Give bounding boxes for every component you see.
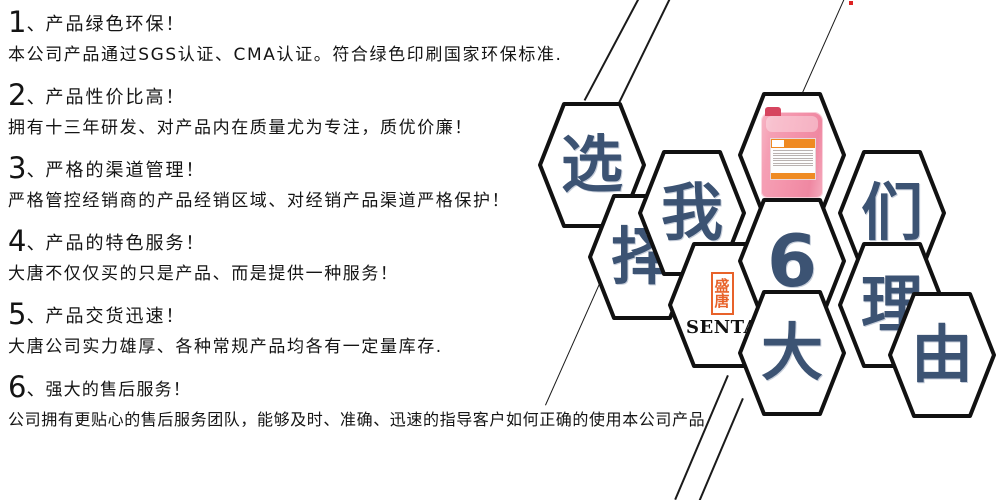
reason-heading: 1、产品绿色环保！ bbox=[8, 8, 708, 37]
hex-label-big: 大 bbox=[736, 288, 848, 418]
reason-body: 本公司产品通过SGS认证、CMA认证。符合绿色印刷国家环保标准. bbox=[8, 44, 708, 67]
reason-body: 公司拥有更贴心的售后服务团队，能够及时、准确、迅速的指导客户如何正确的使用本公司… bbox=[8, 409, 708, 431]
reason-separator: 、 bbox=[26, 305, 45, 327]
reason-body: 大唐公司实力雄厚、各种常规产品均各有一定量库存. bbox=[8, 336, 708, 359]
jerrycan-sheen bbox=[766, 116, 818, 132]
reason-title: 产品的特色服务！ bbox=[45, 233, 205, 254]
label-header-band bbox=[771, 139, 815, 148]
reason-number: 2 bbox=[8, 78, 26, 112]
hex-cell-big[interactable]: 大 bbox=[736, 288, 848, 418]
jerrycan-label bbox=[770, 138, 816, 180]
reason-title: 产品绿色环保！ bbox=[45, 14, 185, 35]
label-footer-band bbox=[771, 173, 815, 179]
label-text-lines bbox=[771, 148, 815, 173]
reason-number: 6 bbox=[8, 370, 26, 404]
hex-cell-reason-2[interactable]: 由 bbox=[886, 290, 998, 420]
reason-separator: 、 bbox=[26, 378, 45, 400]
reason-title: 产品性价比高！ bbox=[45, 87, 185, 108]
reason-heading: 6、强大的售后服务！ bbox=[8, 373, 708, 402]
reason-separator: 、 bbox=[26, 159, 45, 181]
jerrycan-icon bbox=[761, 112, 823, 198]
reason-number: 3 bbox=[8, 151, 26, 185]
reason-separator: 、 bbox=[26, 232, 45, 254]
poster-canvas: 1、产品绿色环保！ 本公司产品通过SGS认证、CMA认证。符合绿色印刷国家环保标… bbox=[0, 0, 1000, 500]
logo-char-2: 唐 bbox=[714, 294, 729, 309]
reason-number: 5 bbox=[8, 297, 26, 331]
reason-number: 4 bbox=[8, 224, 26, 258]
reason-item-6: 6、强大的售后服务！ 公司拥有更贴心的售后服务团队，能够及时、准确、迅速的指导客… bbox=[8, 373, 708, 431]
logo-mark-icon: 盛 唐 bbox=[711, 272, 734, 315]
reason-separator: 、 bbox=[26, 13, 45, 35]
decorative-red-dot bbox=[849, 1, 853, 5]
reason-separator: 、 bbox=[26, 86, 45, 108]
reason-title: 产品交货迅速！ bbox=[45, 306, 185, 327]
hex-label-reason-2: 由 bbox=[886, 290, 998, 420]
reason-title: 强大的售后服务！ bbox=[45, 380, 191, 400]
reason-number: 1 bbox=[8, 5, 26, 39]
reason-title: 严格的渠道管理！ bbox=[45, 160, 205, 181]
reason-item-1: 1、产品绿色环保！ 本公司产品通过SGS认证、CMA认证。符合绿色印刷国家环保标… bbox=[8, 8, 708, 67]
